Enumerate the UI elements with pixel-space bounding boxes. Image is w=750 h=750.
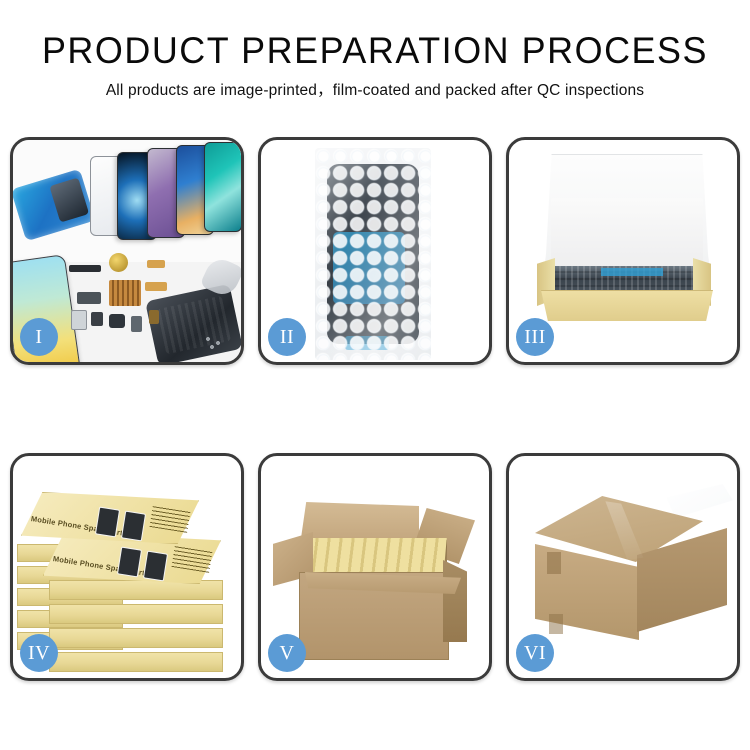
process-step-panel-5[interactable]: V [258,453,492,681]
box-art-screen-1 [95,507,120,538]
stacked-box-r5 [49,652,223,672]
step-badge-2: II [268,318,306,356]
spare-part-6 [131,316,142,332]
chip-array-icon [109,280,141,306]
stacked-box-r3 [49,604,223,624]
box-art-screen-2 [121,511,146,542]
spare-part-3 [71,310,87,330]
plastic-gloss [315,148,431,360]
step-badge-3: III [516,318,554,356]
page-header: PRODUCT PREPARATION PROCESS All products… [0,0,750,99]
spare-part-7 [149,310,159,324]
step-badge-1: I [20,318,58,356]
phone-backplate-icon [145,284,241,362]
carton-tape-patch-lower [549,614,563,634]
process-step-grid: I II III [10,137,740,681]
step-badge-4: IV [20,634,58,672]
wireless-coil-icon [109,253,128,272]
spare-part-2 [77,292,101,304]
screws-icon [205,336,227,350]
page-subtitle: All products are image-printed，film-coat… [0,83,750,99]
flex-cable-2 [145,282,167,291]
foam-liner [551,198,703,274]
process-step-panel-6[interactable]: VI [506,453,740,681]
carton-tape-patch-upper [547,552,561,574]
spare-part-4 [91,312,103,326]
box-front-panel [541,290,713,321]
phone-front-4 [204,142,241,232]
box-art-screen-4 [143,551,168,582]
spare-part-1 [69,265,101,272]
step-badge-5: V [268,634,306,672]
process-step-panel-4[interactable]: Mobile Phone Spare Parts Mobile Phone Sp… [10,453,244,681]
box-art-screen-3 [117,547,142,578]
spare-part-5 [109,314,125,328]
process-step-panel-1[interactable]: I [10,137,244,365]
process-step-panel-3[interactable]: III [506,137,740,365]
stacked-box-r4 [49,628,223,648]
blue-film-strip [601,268,663,276]
step-badge-6: VI [516,634,554,672]
page-title: PRODUCT PREPARATION PROCESS [11,32,739,69]
carton-right-face [443,560,467,642]
process-step-panel-2[interactable]: II [258,137,492,365]
flex-cable-1 [147,260,165,268]
